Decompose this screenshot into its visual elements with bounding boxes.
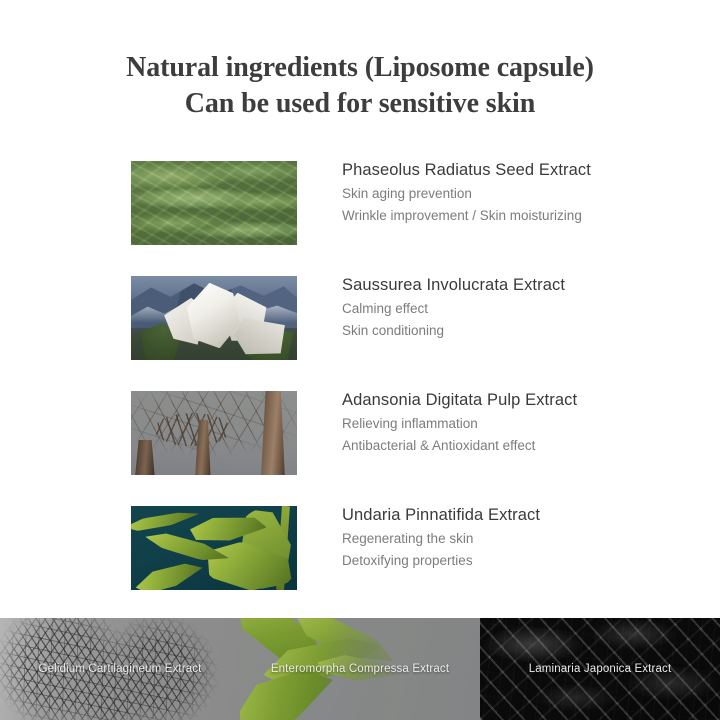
ingredient-row: Undaria Pinnatifida Extract Regenerating… [0,506,720,621]
ingredient-name: Adansonia Digitata Pulp Extract [342,387,702,413]
strip-label: Enteromorpha Compressa Extract [240,618,480,720]
ingredient-image-green-bean-pods [131,161,297,245]
ingredient-text: Undaria Pinnatifida Extract Regenerating… [342,502,702,572]
ingredient-name: Phaseolus Radiatus Seed Extract [342,157,702,183]
page-title-line-2: Can be used for sensitive skin [0,86,720,122]
ingredient-benefit-2: Skin conditioning [342,320,702,342]
strip-panel-laminaria: Laminaria Japonica Extract [480,618,720,720]
strip-label: Gelidium Cartilagineum Extract [0,618,240,720]
page-title: Natural ingredients (Liposome capsule) C… [0,50,720,122]
ingredient-text: Phaseolus Radiatus Seed Extract Skin agi… [342,157,702,227]
ingredient-image-baobab-trees [131,391,297,475]
strip-label: Laminaria Japonica Extract [480,618,720,720]
green-bean-pods-photo [131,161,297,245]
natural-ingredients-infographic: Natural ingredients (Liposome capsule) C… [0,0,720,720]
ingredient-benefit-2: Antibacterial & Antioxidant effect [342,435,702,457]
ingredient-benefit-2: Detoxifying properties [342,550,702,572]
ingredient-name: Undaria Pinnatifida Extract [342,502,702,528]
ingredient-benefit-1: Calming effect [342,298,702,320]
ingredient-image-kelp-seaweed [131,506,297,590]
snow-lotus-flower-photo [131,276,297,360]
ingredient-text: Saussurea Involucrata Extract Calming ef… [342,272,702,342]
strip-panel-gelidium: Gelidium Cartilagineum Extract [0,618,240,720]
ingredient-row: Phaseolus Radiatus Seed Extract Skin agi… [0,161,720,276]
page-title-line-1: Natural ingredients (Liposome capsule) [0,50,720,86]
ingredient-text: Adansonia Digitata Pulp Extract Relievin… [342,387,702,457]
ingredient-row: Adansonia Digitata Pulp Extract Relievin… [0,391,720,506]
ingredient-benefit-1: Skin aging prevention [342,183,702,205]
ingredient-image-snow-lotus [131,276,297,360]
ingredient-list: Phaseolus Radiatus Seed Extract Skin agi… [0,161,720,621]
ingredient-row: Saussurea Involucrata Extract Calming ef… [0,276,720,391]
ingredient-benefit-1: Regenerating the skin [342,528,702,550]
kelp-seaweed-photo [131,506,297,590]
ingredient-benefit-2: Wrinkle improvement / Skin moisturizing [342,205,702,227]
strip-panel-enteromorpha: Enteromorpha Compressa Extract [240,618,480,720]
kelp-blade-shape [132,555,206,590]
bottom-ingredient-strip: Gelidium Cartilagineum Extract Enteromor… [0,618,720,720]
ingredient-benefit-1: Relieving inflammation [342,413,702,435]
kelp-blade-shape [131,507,201,536]
ingredient-name: Saussurea Involucrata Extract [342,272,702,298]
baobab-trees-photo [131,391,297,475]
